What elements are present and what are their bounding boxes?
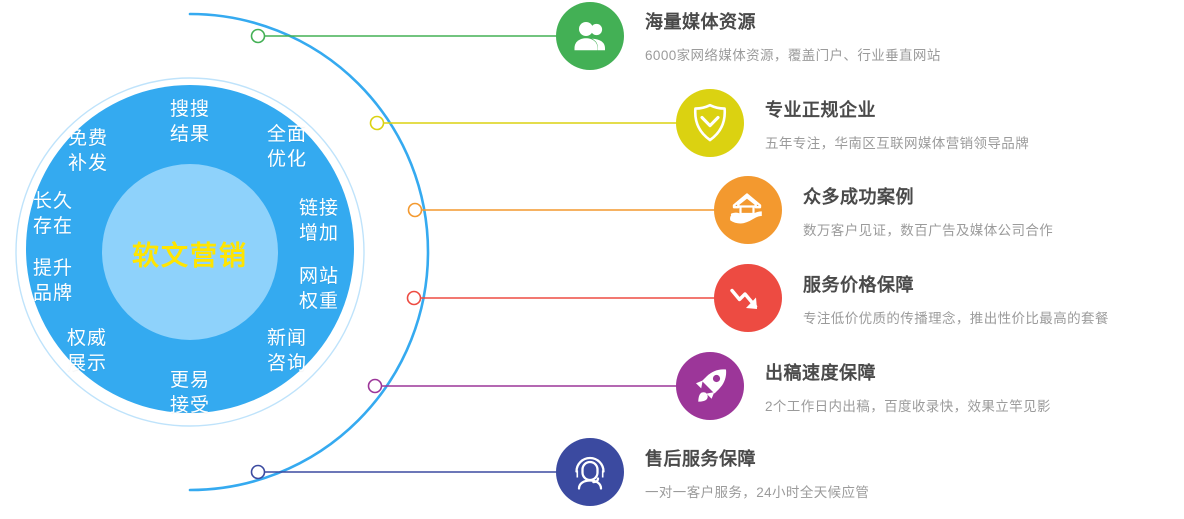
rocket-icon — [676, 352, 744, 420]
shield-icon — [676, 89, 744, 157]
infographic-canvas: 搜搜 结果 全面 优化 链接 增加 网站 权重 新闻 咨询 更易 接受 权威 展… — [0, 0, 1184, 519]
feature-subtitle: 五年专注，华南区互联网媒体营销领导品牌 — [765, 132, 1029, 152]
feature-title: 海量媒体资源 — [645, 8, 756, 34]
connector-dot-media-resources — [252, 30, 265, 43]
price-down-icon — [714, 264, 782, 332]
connector-dot-speed-guarantee — [369, 380, 382, 393]
feature-subtitle: 2个工作日内出稿，百度收录快，效果立竿见影 — [765, 395, 1051, 415]
connector-dot-professional-company — [371, 117, 384, 130]
feature-subtitle: 一对一客户服务，24小时全天候应管 — [645, 481, 869, 501]
feature-subtitle: 专注低价优质的传播理念，推出性价比最高的套餐 — [803, 307, 1109, 327]
feature-title: 专业正规企业 — [765, 96, 876, 122]
feature-title: 售后服务保障 — [645, 445, 756, 471]
people-icon — [556, 2, 624, 70]
headset-support-icon — [556, 438, 624, 506]
feature-title: 出稿速度保障 — [765, 359, 876, 385]
feature-title: 众多成功案例 — [803, 183, 914, 209]
feature-title: 服务价格保障 — [803, 271, 914, 297]
connector-dot-aftersales-guarantee — [252, 466, 265, 479]
connector-dot-success-cases — [409, 204, 422, 217]
feature-subtitle: 数万客户见证，数百广告及媒体公司合作 — [803, 219, 1053, 239]
feature-subtitle: 6000家网络媒体资源，覆盖门户、行业垂直网站 — [645, 44, 941, 64]
house-in-hand-icon — [714, 176, 782, 244]
connector-dot-price-guarantee — [408, 292, 421, 305]
